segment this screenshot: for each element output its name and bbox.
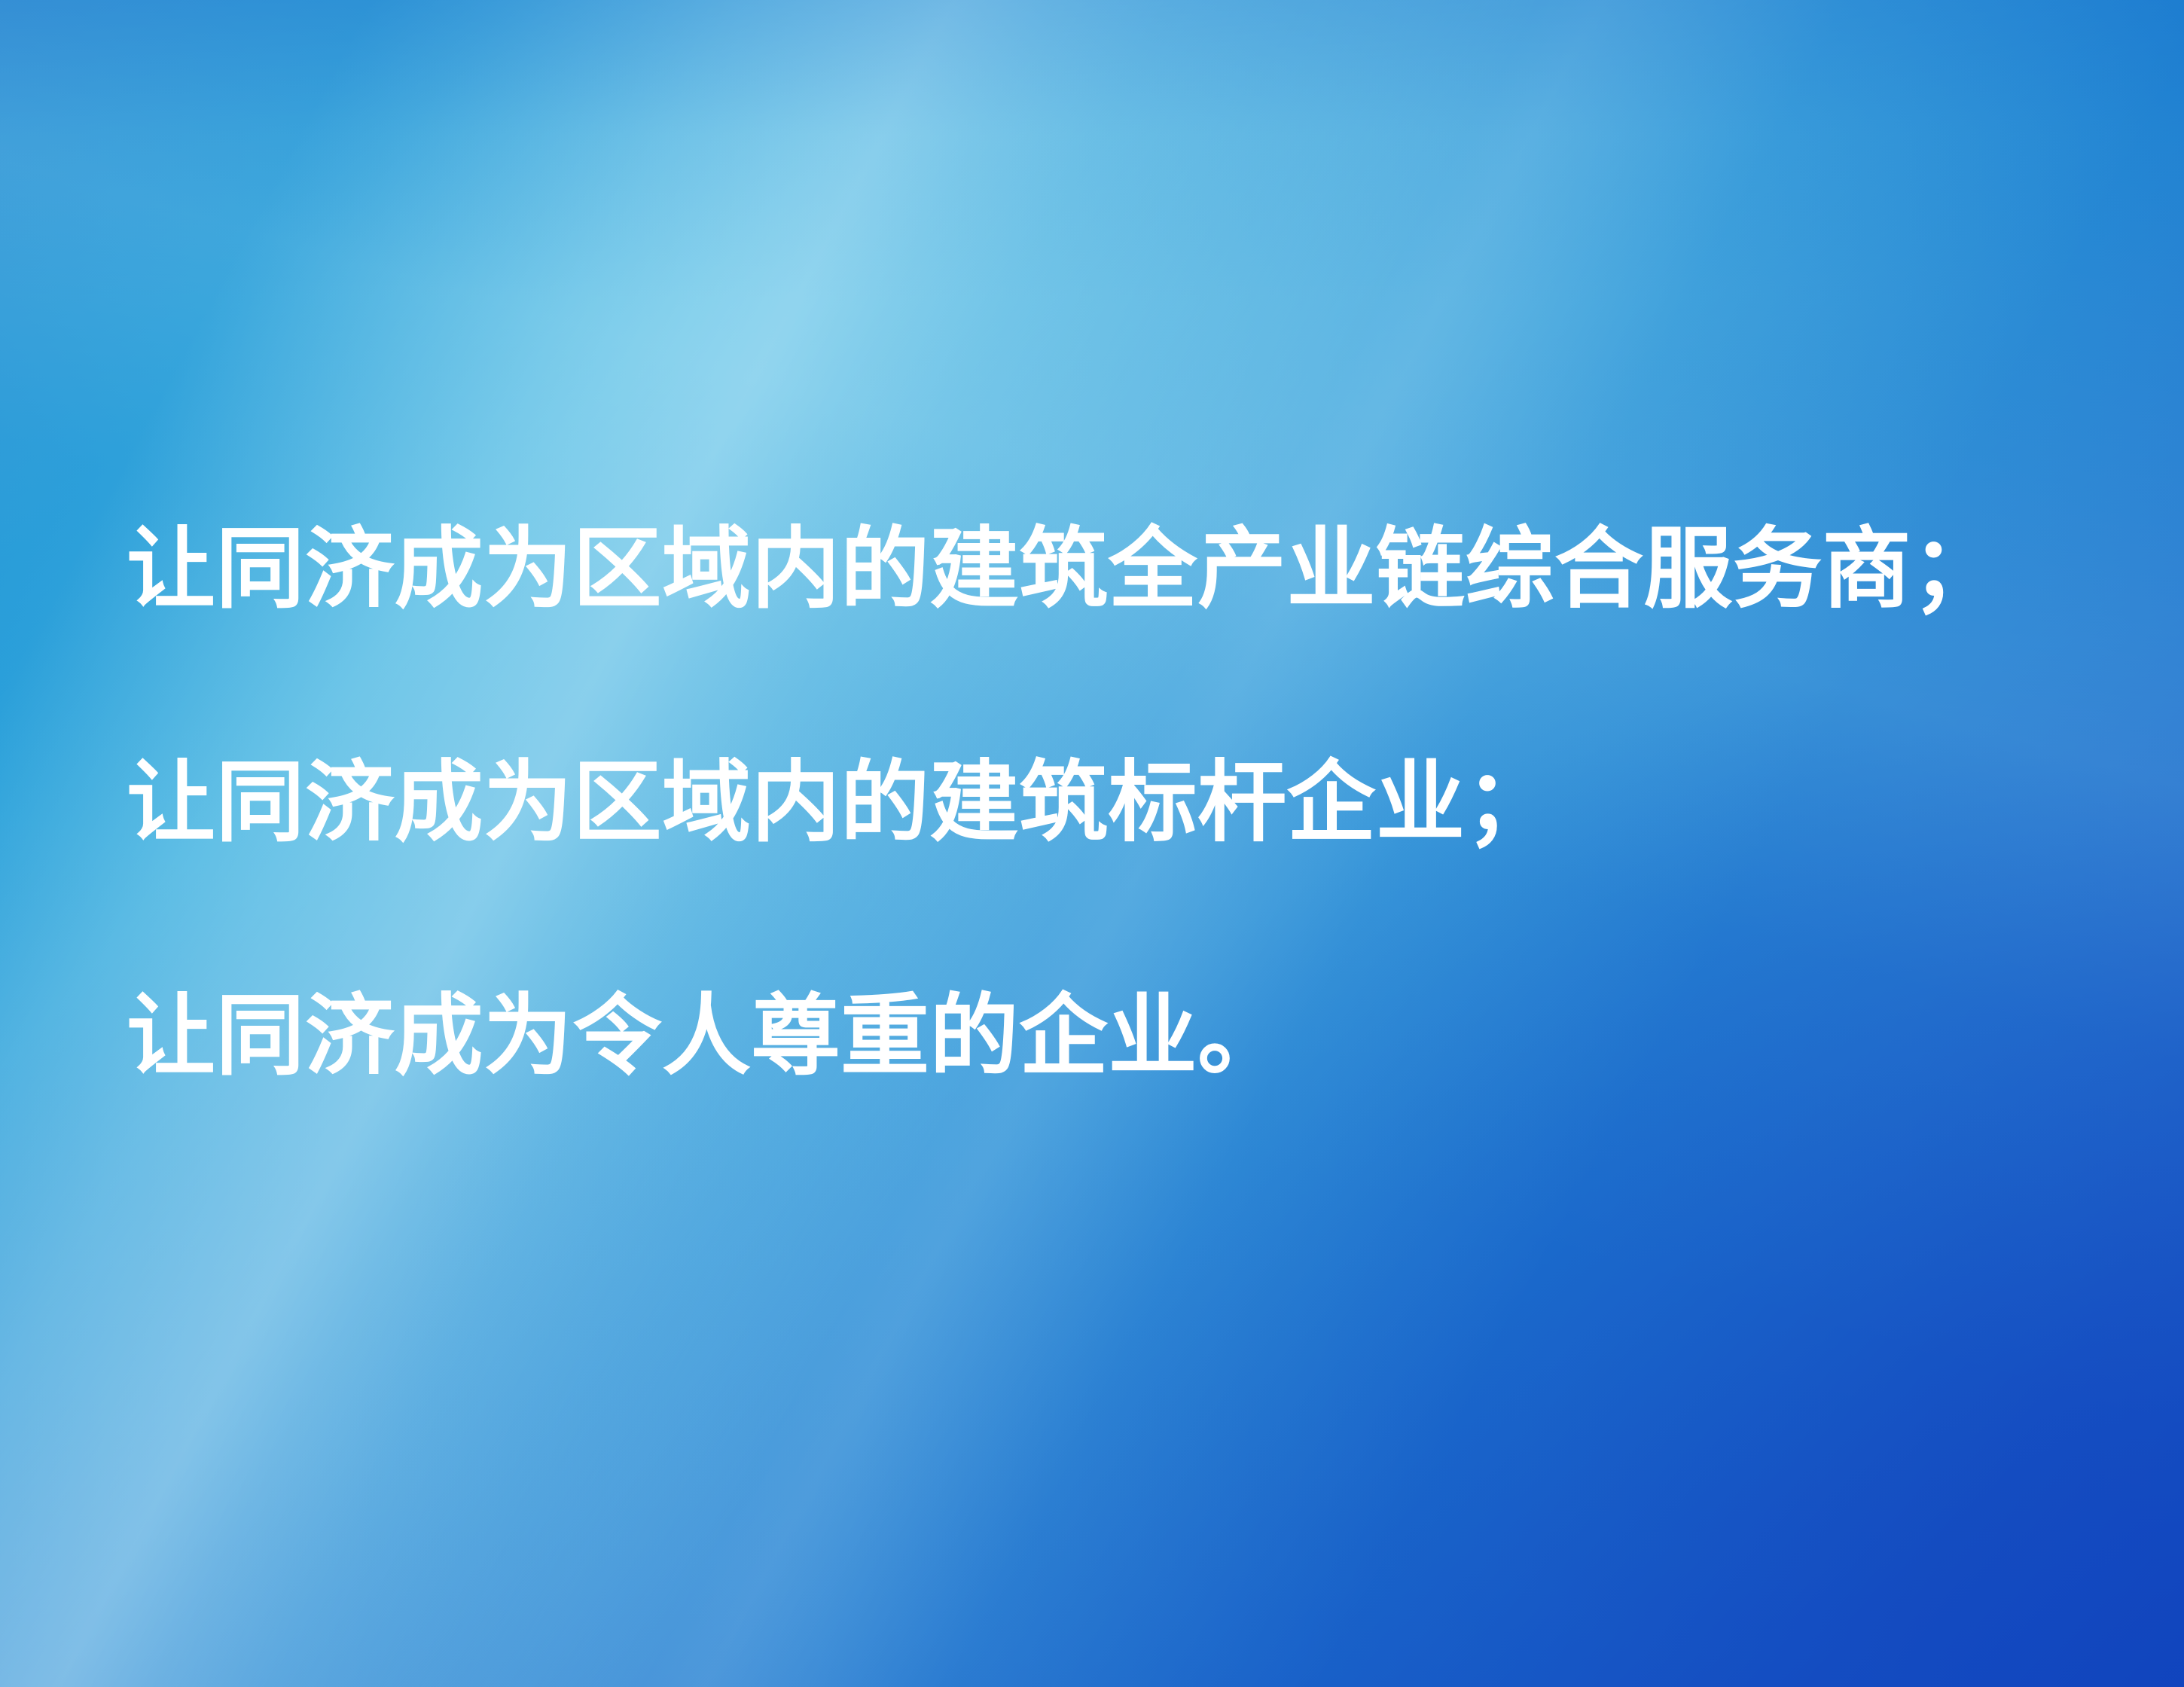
vision-statement-block: 让同济成为区域内的建筑全产业链综合服务商； 让同济成为区域内的建筑标杆企业； 让…: [127, 452, 2085, 1152]
vision-line-2: 让同济成为区域内的建筑标杆企业；: [127, 685, 2085, 919]
presentation-slide: 让同济成为区域内的建筑全产业链综合服务商； 让同济成为区域内的建筑标杆企业； 让…: [0, 0, 2184, 1687]
vision-line-1: 让同济成为区域内的建筑全产业链综合服务商；: [127, 452, 2085, 685]
vision-line-3: 让同济成为令人尊重的企业。: [127, 919, 2085, 1152]
